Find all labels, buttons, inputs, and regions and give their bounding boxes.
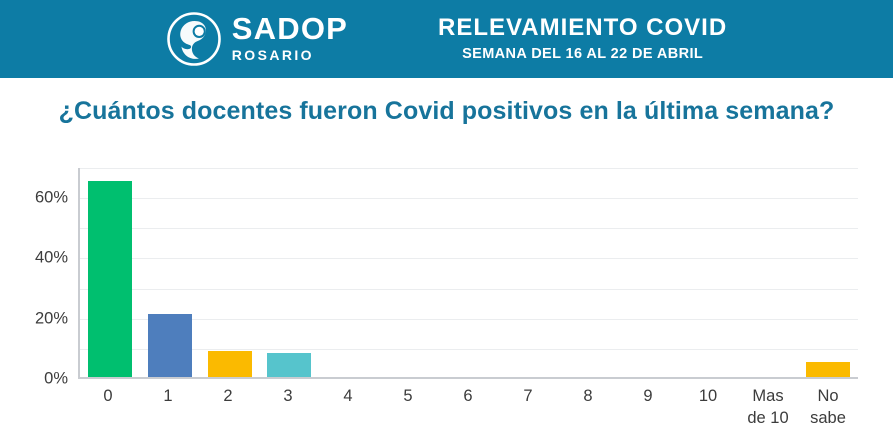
y-axis-tick-label: 0% xyxy=(10,370,68,389)
bar-slot[interactable] xyxy=(260,168,320,377)
bar-slot[interactable] xyxy=(80,168,140,377)
chart-title: ¿Cuántos docentes fueron Covid positivos… xyxy=(0,95,893,127)
header-content: SADOP ROSARIO RELEVAMIENTO COVID SEMANA … xyxy=(166,11,727,67)
x-axis-tick-label: 3 xyxy=(258,386,318,430)
x-axis-tick-label: 1 xyxy=(138,386,198,430)
bar[interactable] xyxy=(806,362,850,377)
bar-slot[interactable] xyxy=(200,168,260,377)
bar-slot[interactable] xyxy=(319,168,379,377)
y-axis-tick-label: 40% xyxy=(10,249,68,268)
sadop-brand: SADOP ROSARIO xyxy=(166,11,348,67)
x-axis-tick-label: 4 xyxy=(318,386,378,430)
campaign-subtitle: SEMANA DEL 16 AL 22 DE ABRIL xyxy=(462,45,703,64)
y-axis-tick-label: 20% xyxy=(10,309,68,328)
y-axis-tick-label: 60% xyxy=(10,189,68,208)
plot-area xyxy=(78,168,858,379)
bar-slot[interactable] xyxy=(798,168,858,377)
bars-group xyxy=(80,168,858,377)
x-axis-tick-label: 7 xyxy=(498,386,558,430)
bar-slot[interactable] xyxy=(678,168,738,377)
bar-slot[interactable] xyxy=(559,168,619,377)
bar[interactable] xyxy=(267,353,311,377)
x-axis-tick-label: 5 xyxy=(378,386,438,430)
x-axis-tick-label: 0 xyxy=(78,386,138,430)
bar-slot[interactable] xyxy=(379,168,439,377)
brand-subtitle: ROSARIO xyxy=(232,46,348,66)
campaign-title: RELEVAMIENTO COVID xyxy=(438,14,727,42)
x-axis-tick-label: Mas de 10 xyxy=(738,386,798,430)
x-axis-tick-label: 6 xyxy=(438,386,498,430)
x-axis-tick-label: 10 xyxy=(678,386,738,430)
bar-chart: 0%20%40%60% 012345678910Mas de 10No sabe xyxy=(0,160,893,444)
header-banner: SADOP ROSARIO RELEVAMIENTO COVID SEMANA … xyxy=(0,0,893,78)
bar-slot[interactable] xyxy=(140,168,200,377)
bar-slot[interactable] xyxy=(499,168,559,377)
bar[interactable] xyxy=(148,314,192,377)
bar-slot[interactable] xyxy=(619,168,679,377)
brand-text: SADOP ROSARIO xyxy=(232,13,348,66)
brand-name: SADOP xyxy=(232,13,348,44)
x-axis-tick-label: 2 xyxy=(198,386,258,430)
x-axis-tick-label: 8 xyxy=(558,386,618,430)
x-axis-tick-label: No sabe xyxy=(798,386,858,430)
x-axis-tick-label: 9 xyxy=(618,386,678,430)
x-axis-labels: 012345678910Mas de 10No sabe xyxy=(78,386,858,430)
campaign-block: RELEVAMIENTO COVID SEMANA DEL 16 AL 22 D… xyxy=(438,14,727,63)
bar[interactable] xyxy=(88,181,132,377)
bar-slot[interactable] xyxy=(738,168,798,377)
bar[interactable] xyxy=(208,351,252,377)
bar-slot[interactable] xyxy=(439,168,499,377)
sadop-circle-logo-icon xyxy=(166,11,222,67)
